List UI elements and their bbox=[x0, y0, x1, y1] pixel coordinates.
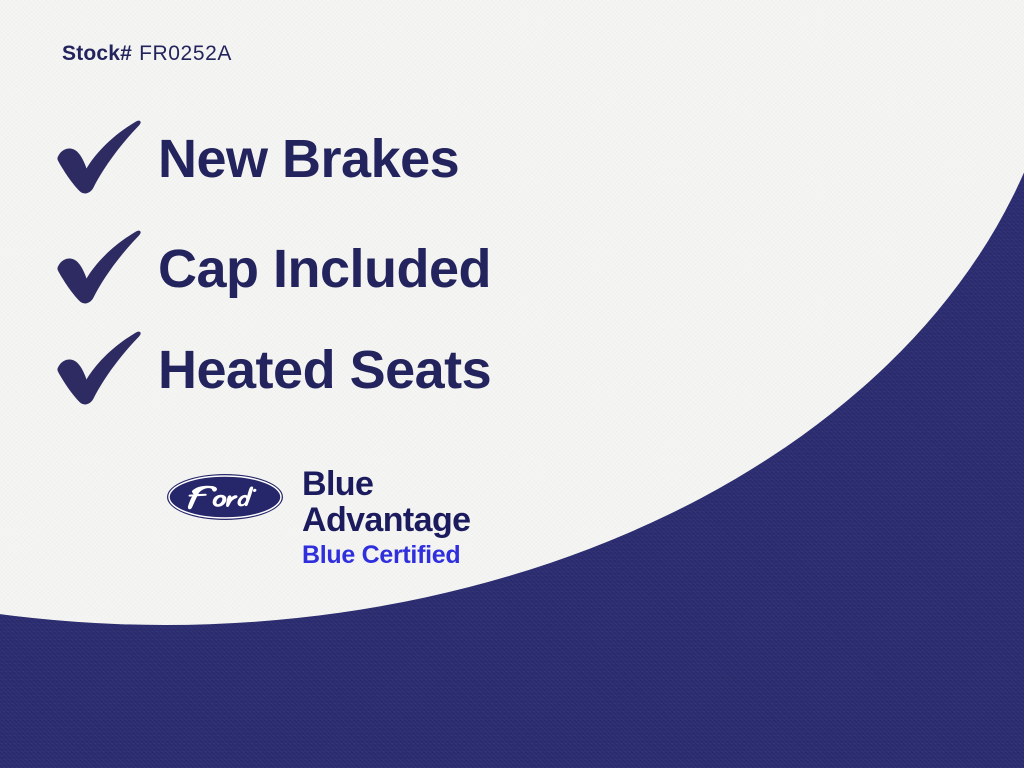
stock-label: Stock# bbox=[62, 42, 132, 65]
ford-blue-advantage-lockup: Blue Advantage Blue Certified bbox=[166, 467, 470, 568]
promo-graphic: Stock#FR0252A New Brakes Cap Included He… bbox=[0, 0, 1024, 768]
checkmark-icon bbox=[52, 229, 144, 309]
ford-oval-logo-icon bbox=[166, 473, 284, 521]
content-layer: Stock#FR0252A New Brakes Cap Included He… bbox=[0, 0, 1024, 768]
feature-label: New Brakes bbox=[158, 132, 459, 186]
feature-row: New Brakes bbox=[52, 116, 459, 202]
feature-row: Cap Included bbox=[52, 226, 491, 312]
feature-row: Heated Seats bbox=[52, 327, 491, 413]
ba-line-blue: Blue bbox=[302, 467, 470, 501]
stock-number-line: Stock#FR0252A bbox=[62, 42, 232, 66]
feature-label: Cap Included bbox=[158, 242, 491, 296]
stock-value: FR0252A bbox=[139, 42, 232, 65]
feature-label: Heated Seats bbox=[158, 343, 491, 397]
ba-line-advantage: Advantage bbox=[302, 503, 470, 537]
blue-advantage-text: Blue Advantage Blue Certified bbox=[302, 467, 470, 568]
checkmark-icon bbox=[52, 330, 144, 410]
ba-blue-certified-label: Blue Certified bbox=[302, 543, 470, 568]
checkmark-icon bbox=[52, 119, 144, 199]
